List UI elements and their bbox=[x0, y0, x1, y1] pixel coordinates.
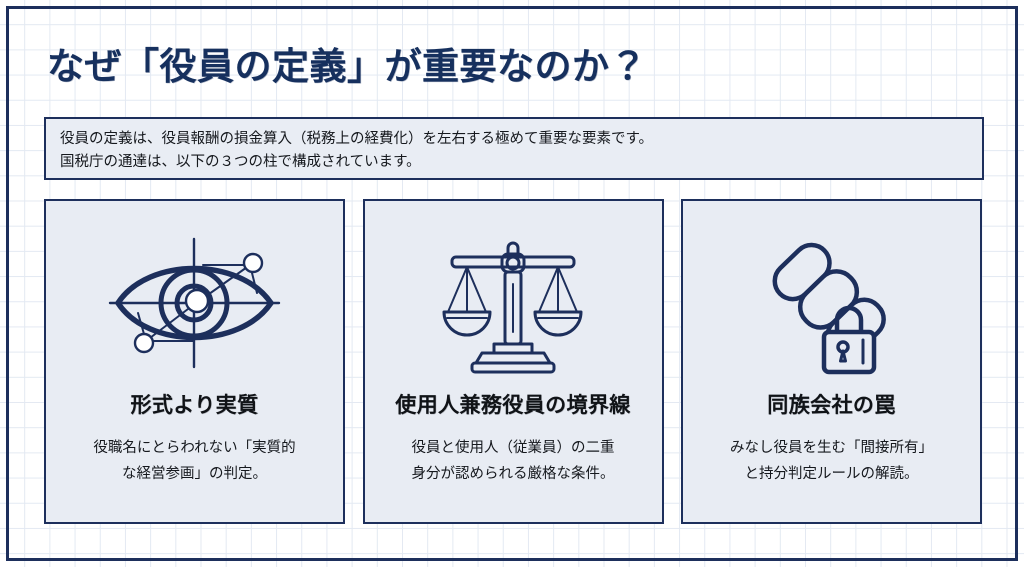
description-line-2: 身分が認められる厳格な条件。 bbox=[379, 461, 647, 487]
eye-analysis-icon bbox=[102, 223, 287, 383]
pillar-card-substance-over-form[interactable]: 形式より実質 役職名にとらわれない「実質的 な経営参画」の判定。 bbox=[44, 199, 345, 524]
pillar-card-employee-director-boundary[interactable]: 使用人兼務役員の境界線 役員と使用人（従業員）の二重 身分が認められる厳格な条件… bbox=[363, 199, 664, 524]
description-line-2: な経営参画」の判定。 bbox=[61, 461, 329, 487]
pillar-card-title: 同族会社の罠 bbox=[767, 389, 895, 419]
lead-summary-box: 役員の定義は、役員報酬の損金算入（税務上の経費化）を左右する極めて重要な要素です… bbox=[44, 117, 984, 180]
description-line-1: みなし役員を生む「間接所有」 bbox=[698, 435, 966, 461]
pillar-card-title: 形式より実質 bbox=[131, 389, 259, 419]
pillar-card-description: 役職名にとらわれない「実質的 な経営参画」の判定。 bbox=[61, 435, 329, 487]
pillar-card-title: 使用人兼務役員の境界線 bbox=[395, 389, 630, 419]
slide-canvas: なぜ「役員の定義」が重要なのか？ 役員の定義は、役員報酬の損金算入（税務上の経費… bbox=[0, 0, 1024, 567]
page-title: なぜ「役員の定義」が重要なのか？ bbox=[47, 44, 647, 89]
pillar-card-description: 役員と使用人（従業員）の二重 身分が認められる厳格な条件。 bbox=[379, 435, 647, 487]
description-line-1: 役員と使用人（従業員）の二重 bbox=[379, 435, 647, 461]
balance-scale-icon bbox=[438, 223, 588, 383]
lead-line-1: 役員の定義は、役員報酬の損金算入（税務上の経費化）を左右する極めて重要な要素です… bbox=[60, 128, 968, 151]
pillar-card-family-company-trap[interactable]: 同族会社の罠 みなし役員を生む「間接所有」 と持分判定ルールの解読。 bbox=[681, 199, 982, 524]
description-line-2: と持分判定ルールの解読。 bbox=[698, 461, 966, 487]
lead-line-2: 国税庁の通達は、以下の３つの柱で構成されています。 bbox=[60, 151, 968, 174]
description-line-1: 役職名にとらわれない「実質的 bbox=[61, 435, 329, 461]
chain-lock-icon bbox=[757, 223, 907, 383]
pillar-card-description: みなし役員を生む「間接所有」 と持分判定ルールの解読。 bbox=[698, 435, 966, 487]
pillar-card-row: 形式より実質 役職名にとらわれない「実質的 な経営参画」の判定。 bbox=[44, 199, 982, 524]
